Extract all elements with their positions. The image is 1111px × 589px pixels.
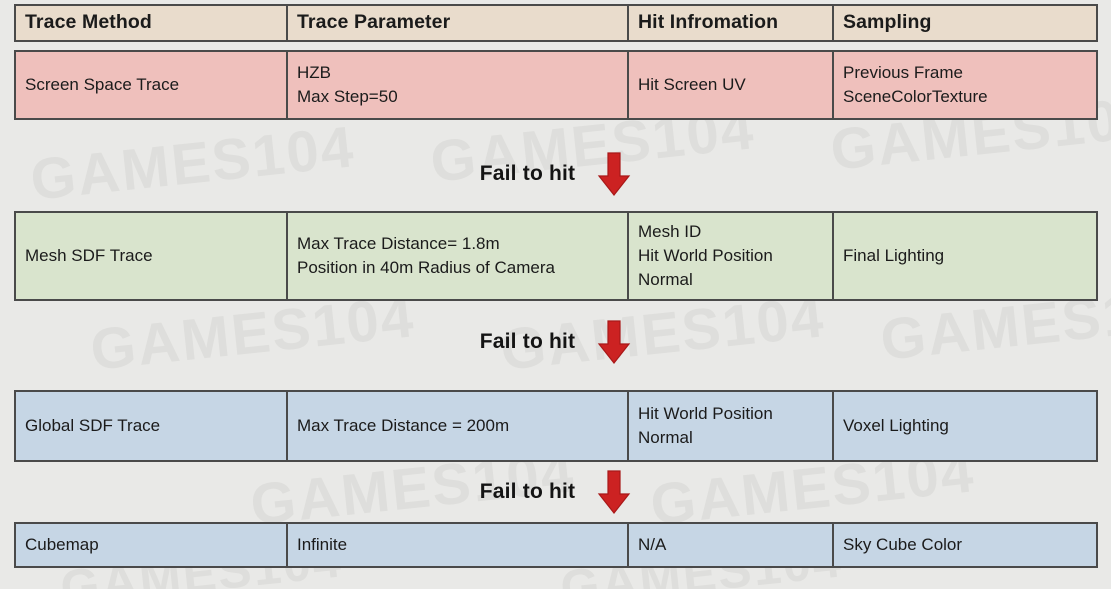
table-row: Mesh SDF Trace Max Trace Distance= 1.8m …: [14, 211, 1098, 301]
cell-sampling: Voxel Lighting: [834, 392, 1096, 460]
cell-trace-method: Mesh SDF Trace: [16, 213, 288, 299]
arrow-down-icon: [597, 152, 631, 196]
column-header-hit-information: Hit Infromation: [629, 6, 834, 40]
table-row: Cubemap Infinite N/A Sky Cube Color: [14, 522, 1098, 568]
cell-sampling: Previous Frame SceneColorTexture: [834, 52, 1096, 118]
table-header-row: Trace Method Trace Parameter Hit Infroma…: [14, 4, 1098, 42]
cell-sampling: Sky Cube Color: [834, 524, 1096, 566]
fail-to-hit-label: Fail to hit: [480, 162, 576, 186]
connector-fail-to-hit-1: Fail to hit: [0, 152, 1111, 196]
column-header-sampling: Sampling: [834, 6, 1096, 40]
cell-trace-method: Cubemap: [16, 524, 288, 566]
table-row: Screen Space Trace HZB Max Step=50 Hit S…: [14, 50, 1098, 120]
cell-hit-information: Hit Screen UV: [629, 52, 834, 118]
cell-hit-information: Hit World Position Normal: [629, 392, 834, 460]
cell-hit-information: Mesh ID Hit World Position Normal: [629, 213, 834, 299]
fail-to-hit-label: Fail to hit: [480, 330, 576, 354]
cell-trace-parameter: Infinite: [288, 524, 629, 566]
connector-fail-to-hit-2: Fail to hit: [0, 320, 1111, 364]
connector-fail-to-hit-3: Fail to hit: [0, 470, 1111, 514]
table-row: Global SDF Trace Max Trace Distance = 20…: [14, 390, 1098, 462]
cell-hit-information: N/A: [629, 524, 834, 566]
cell-trace-parameter: HZB Max Step=50: [288, 52, 629, 118]
arrow-down-icon: [597, 320, 631, 364]
trace-fallback-diagram: Trace Method Trace Parameter Hit Infroma…: [0, 0, 1111, 589]
cell-trace-parameter: Max Trace Distance= 1.8m Position in 40m…: [288, 213, 629, 299]
column-header-trace-parameter: Trace Parameter: [288, 6, 629, 40]
cell-sampling: Final Lighting: [834, 213, 1096, 299]
fail-to-hit-label: Fail to hit: [480, 480, 576, 504]
column-header-trace-method: Trace Method: [16, 6, 288, 40]
cell-trace-method: Global SDF Trace: [16, 392, 288, 460]
arrow-down-icon: [597, 470, 631, 514]
cell-trace-method: Screen Space Trace: [16, 52, 288, 118]
cell-trace-parameter: Max Trace Distance = 200m: [288, 392, 629, 460]
